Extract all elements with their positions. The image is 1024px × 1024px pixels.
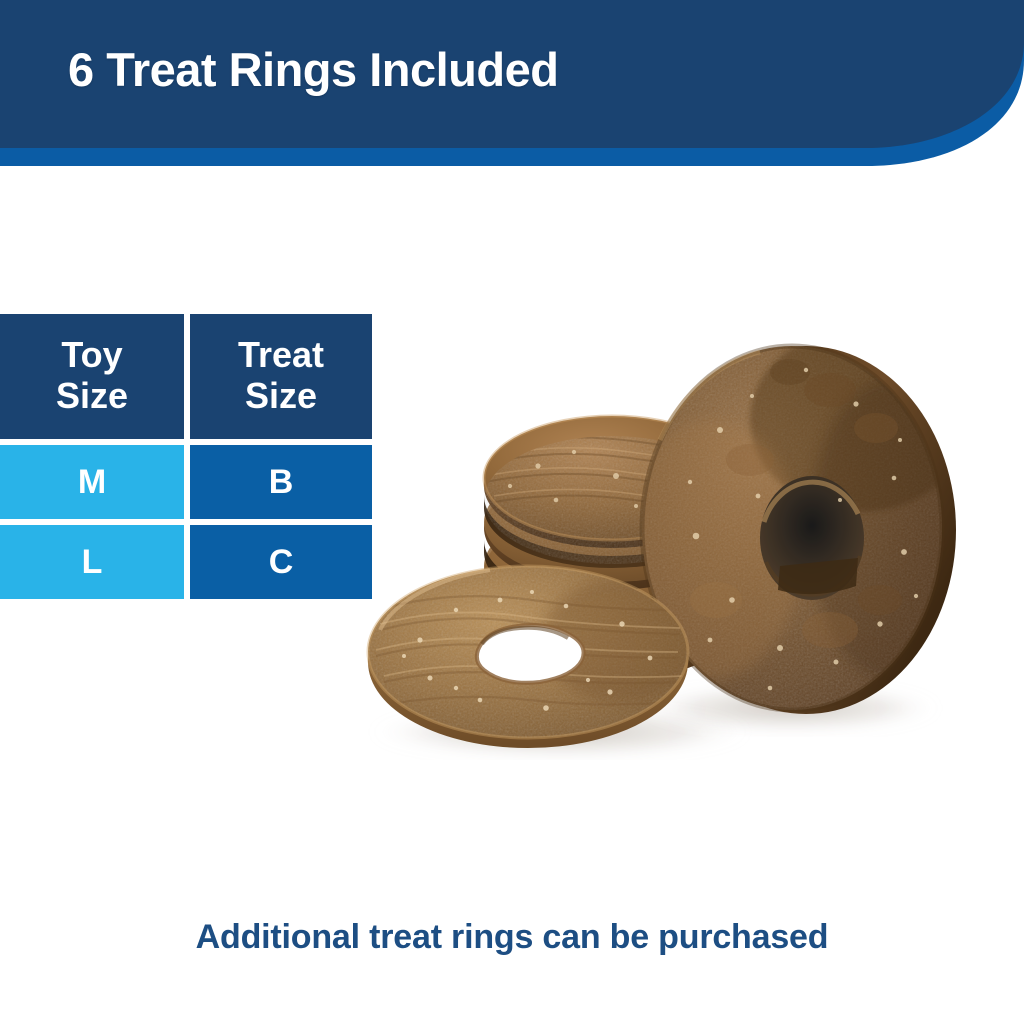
treat-size-value: C <box>269 543 294 581</box>
treat-rings-photo <box>360 300 1024 760</box>
table-row: B <box>190 445 372 519</box>
table-row: L <box>0 525 184 599</box>
table-header-treat-size: Treat Size <box>190 314 372 439</box>
table-header-treat-size-label: Treat Size <box>238 335 324 416</box>
header-banner: 6 Treat Rings Included <box>0 0 1024 180</box>
treat-size-value: B <box>269 463 294 501</box>
table-row: C <box>190 525 372 599</box>
table-header-toy-size-label: Toy Size <box>56 335 128 416</box>
toy-size-value: L <box>82 543 103 581</box>
page-title: 6 Treat Rings Included <box>68 44 928 96</box>
footer-note: Additional treat rings can be purchased <box>0 918 1024 957</box>
size-table: Toy Size Treat Size M B L C <box>0 314 372 599</box>
table-row: M <box>0 445 184 519</box>
infographic-page: 6 Treat Rings Included Toy Size Treat Si… <box>0 0 1024 1024</box>
toy-size-value: M <box>78 463 106 501</box>
table-header-toy-size: Toy Size <box>0 314 184 439</box>
